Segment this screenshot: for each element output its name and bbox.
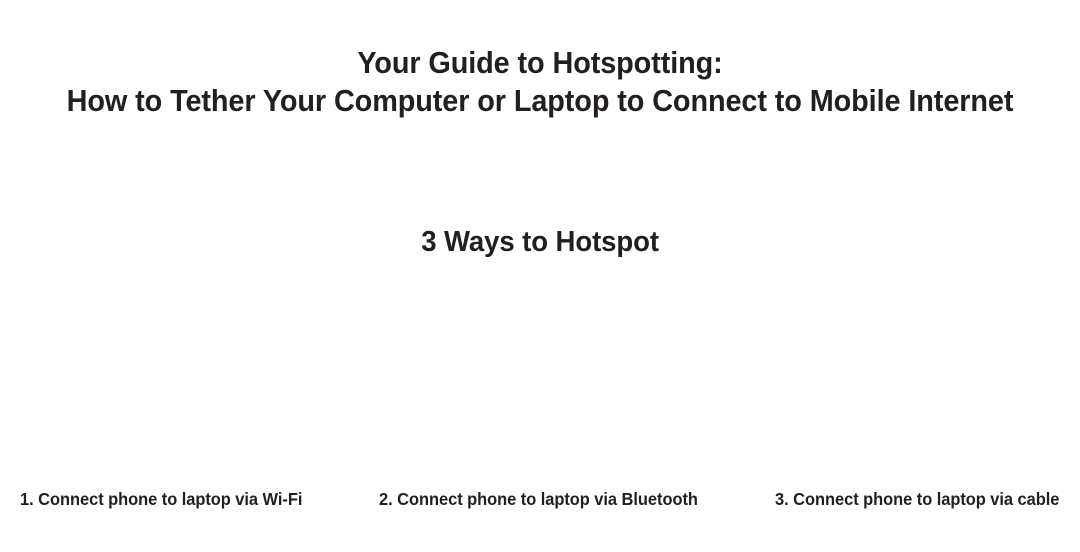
method-caption-cable: 3. Connect phone to laptop via cable bbox=[775, 487, 1059, 511]
section-heading: 3 Ways to Hotspot bbox=[0, 224, 1080, 260]
infographic-page: Your Guide to Hotspotting: How to Tether… bbox=[0, 0, 1080, 552]
method-caption-bluetooth: 2. Connect phone to laptop via Bluetooth bbox=[379, 487, 698, 511]
wifi-tether-illustration bbox=[0, 282, 360, 478]
page-title-line-1: Your Guide to Hotspotting: bbox=[38, 44, 1042, 82]
caption-row: 1. Connect phone to laptop via Wi-Fi 2. … bbox=[0, 487, 1080, 513]
illustration-row bbox=[0, 282, 1080, 478]
cable-tether-illustration bbox=[720, 282, 1080, 478]
section-heading-text: 3 Ways to Hotspot bbox=[421, 224, 659, 260]
bluetooth-tether-illustration bbox=[360, 282, 720, 478]
page-title-line-2: How to Tether Your Computer or Laptop to… bbox=[38, 82, 1042, 120]
method-caption-wifi: 1. Connect phone to laptop via Wi-Fi bbox=[20, 487, 302, 511]
page-title: Your Guide to Hotspotting: How to Tether… bbox=[0, 44, 1080, 120]
